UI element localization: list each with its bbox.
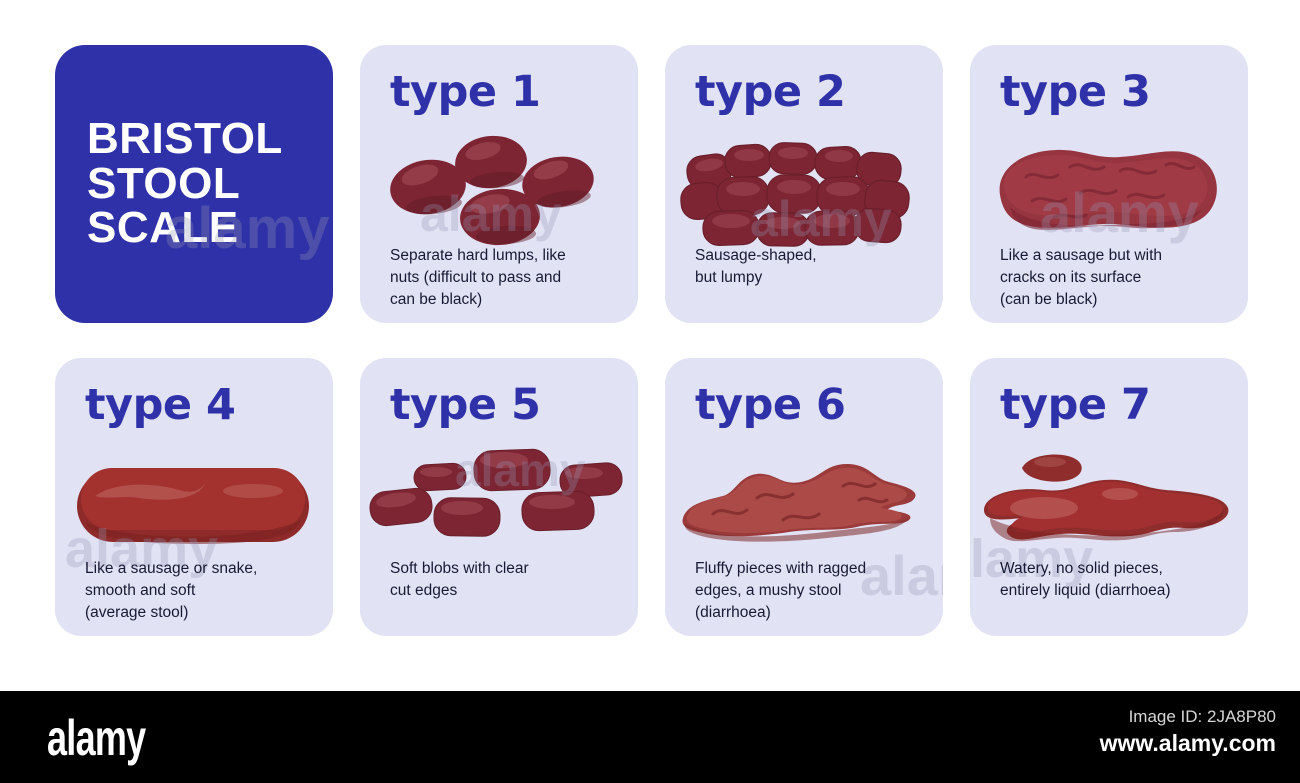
- type-3-illustration: [970, 125, 1248, 255]
- type-2-label: type 2: [695, 67, 845, 117]
- type-3-label: type 3: [1000, 67, 1150, 117]
- type-5-label: type 5: [390, 380, 540, 430]
- title-line-2: STOOL: [87, 162, 283, 207]
- title-line-1: BRISTOL: [87, 117, 283, 162]
- card-type-4: type 4 alamy Like a sausage or snake, sm…: [55, 358, 333, 636]
- card-type-5: type 5: [360, 358, 638, 636]
- type-7-label: type 7: [1000, 380, 1150, 430]
- type-6-description: Fluffy pieces with ragged edges, a mushy…: [695, 558, 925, 624]
- type-3-description: Like a sausage but with cracks on its su…: [1000, 245, 1230, 311]
- type-6-label: type 6: [695, 380, 845, 430]
- alamy-url-label: www.alamy.com: [1100, 730, 1276, 757]
- type-1-description: Separate hard lumps, like nuts (difficul…: [390, 245, 620, 311]
- stool-scale-grid: BRISTOL STOOL SCALE alamy type 1: [55, 45, 1260, 645]
- card-type-1: type 1: [360, 45, 638, 323]
- card-type-6: type 6 alamy Fluffy pieces with ragg: [665, 358, 943, 636]
- infographic-board: BRISTOL STOOL SCALE alamy type 1: [0, 0, 1300, 680]
- alamy-watermark-bar: alamy Image ID: 2JA8P80 www.alamy.com: [0, 691, 1300, 783]
- card-type-7: type 7 alamy Watery, no solid pieces, en…: [970, 358, 1248, 636]
- type-6-illustration: [665, 438, 943, 568]
- card-type-2: type 2: [665, 45, 943, 323]
- type-2-illustration: [665, 125, 943, 255]
- type-4-label: type 4: [85, 380, 235, 430]
- image-id-label: Image ID: 2JA8P80: [1100, 707, 1276, 727]
- type-5-description: Soft blobs with clear cut edges: [390, 558, 620, 602]
- title-line-3: SCALE: [87, 206, 283, 251]
- alamy-logo: alamy: [47, 709, 145, 767]
- type-7-illustration: [970, 438, 1248, 568]
- type-7-description: Watery, no solid pieces, entirely liquid…: [1000, 558, 1230, 602]
- type-5-illustration: [360, 438, 638, 568]
- title-text: BRISTOL STOOL SCALE: [55, 117, 283, 252]
- type-2-description: Sausage-shaped, but lumpy: [695, 245, 925, 289]
- card-type-3: type 3: [970, 45, 1248, 323]
- footer-right-group: Image ID: 2JA8P80 www.alamy.com: [1100, 707, 1276, 757]
- type-1-label: type 1: [390, 67, 540, 117]
- type-4-description: Like a sausage or snake, smooth and soft…: [85, 558, 315, 624]
- title-card: BRISTOL STOOL SCALE alamy: [55, 45, 333, 323]
- type-1-illustration: [360, 125, 638, 255]
- type-4-illustration: [55, 438, 333, 568]
